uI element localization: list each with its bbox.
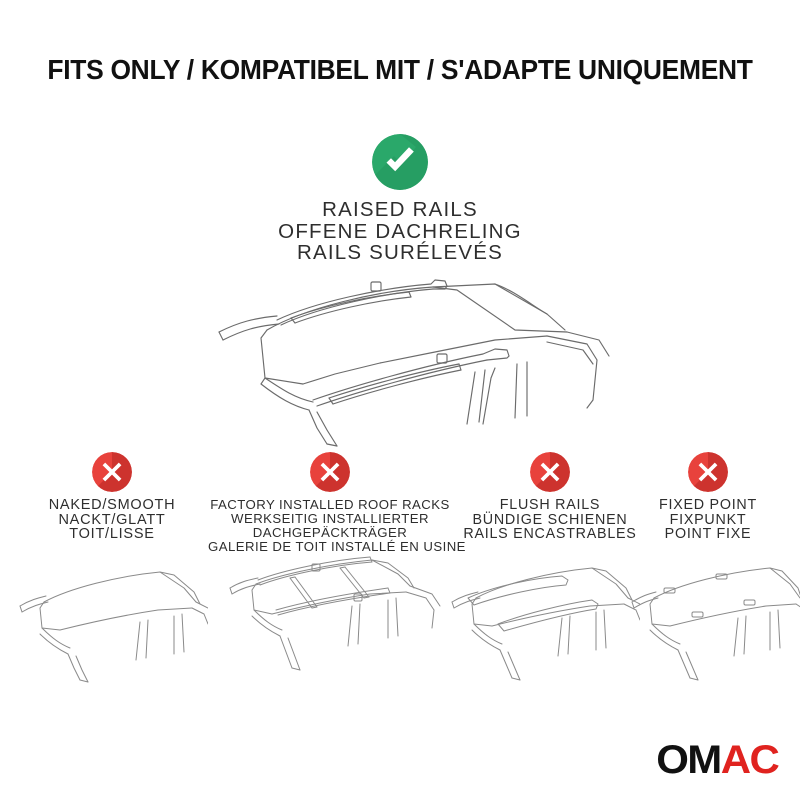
option-label-de-1: WERKSEITIG INSTALLIERTER xyxy=(208,512,452,526)
option-label-en: FLUSH RAILS xyxy=(452,498,648,513)
car-roof-raised-rails-illustration xyxy=(195,278,615,448)
option-label-en: FIXED POINT xyxy=(640,498,776,513)
option-label-de: BÜNDIGE SCHIENEN xyxy=(452,513,648,528)
check-circle-icon xyxy=(372,134,428,190)
omac-logo: OMAC xyxy=(656,740,778,780)
option-labels: FACTORY INSTALLED ROOF RACKS WERKSEITIG … xyxy=(208,498,452,554)
cross-circle-icon xyxy=(92,452,132,492)
option-label-fr: POINT FIXE xyxy=(640,527,776,542)
option-label-en: FACTORY INSTALLED ROOF RACKS xyxy=(208,498,452,512)
omac-logo-dark: OM xyxy=(656,738,721,782)
compatible-labels: RAISED RAILS OFFENE DACHRELING RAILS SUR… xyxy=(200,199,600,264)
option-label-en: NAKED/SMOOTH xyxy=(22,498,202,513)
car-roof-naked-illustration xyxy=(8,558,208,683)
omac-logo-accent: AC xyxy=(720,738,778,782)
compatible-label-de: OFFENE DACHRELING xyxy=(200,221,600,243)
option-labels: FLUSH RAILS BÜNDIGE SCHIENEN RAILS ENCAS… xyxy=(452,498,648,542)
cross-circle-icon xyxy=(688,452,728,492)
option-label-de: FIXPUNKT xyxy=(640,513,776,528)
option-labels: NAKED/SMOOTH NACKT/GLATT TOIT/LISSE xyxy=(22,498,202,542)
option-label-de: NACKT/GLATT xyxy=(22,513,202,528)
option-label-fr: RAILS ENCASTRABLES xyxy=(452,527,648,542)
compatible-label-en: RAISED RAILS xyxy=(200,199,600,221)
cross-circle-icon xyxy=(310,452,350,492)
compatible-label-fr: RAILS SURÉLEVÉS xyxy=(200,242,600,264)
page-title: FITS ONLY / KOMPATIBEL MIT / S'ADAPTE UN… xyxy=(16,54,784,86)
car-roof-factory-rack-illustration xyxy=(212,556,442,684)
car-roof-fixed-point-illustration xyxy=(622,556,800,684)
option-labels: FIXED POINT FIXPUNKT POINT FIXE xyxy=(640,498,776,542)
infographic-page: FITS ONLY / KOMPATIBEL MIT / S'ADAPTE UN… xyxy=(0,0,800,800)
option-label-de-2: DACHGEPÄCKTRÄGER xyxy=(208,526,452,540)
cross-circle-icon xyxy=(530,452,570,492)
option-label-fr: TOIT/LISSE xyxy=(22,527,202,542)
option-label-fr: GALERIE DE TOIT INSTALLÉ EN USINE xyxy=(208,540,452,554)
car-roof-flush-rails-illustration xyxy=(440,556,640,684)
